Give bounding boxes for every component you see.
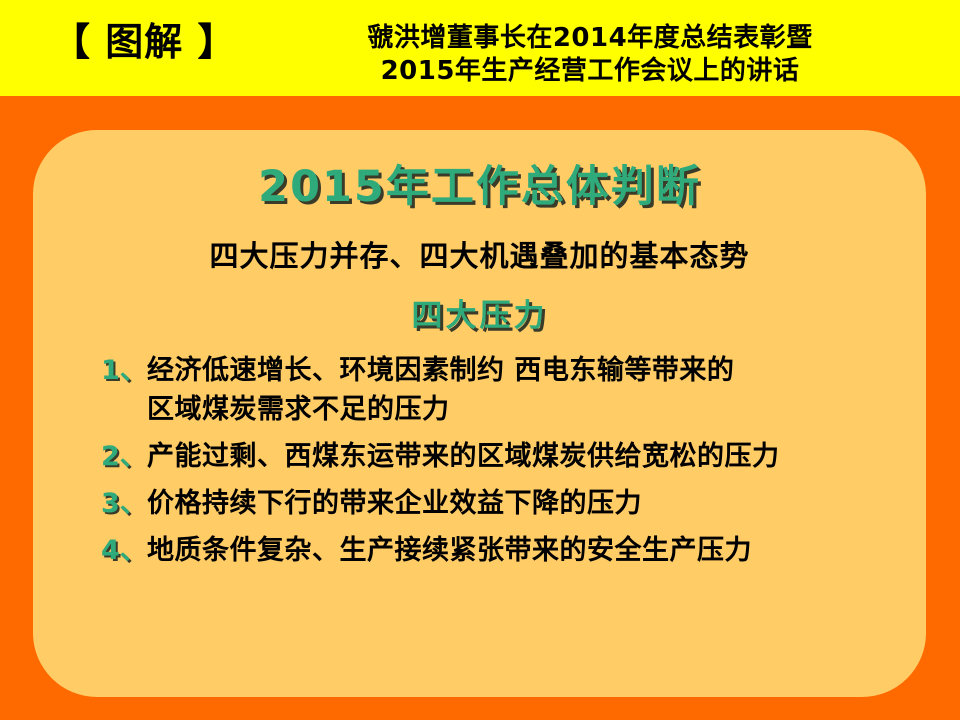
list-item-text-line-1: 地质条件复杂、生产接续紧张带来的安全生产压力 [147,532,921,571]
page-title-line-1: 虢洪增董事长在2014年度总结表彰暨 [250,22,930,55]
list-item-text-line-2: 区域煤炭需求不足的压力 [147,391,921,430]
list-item: 2、 产能过剩、西煤东运带来的区域煤炭供给宽松的压力 [101,438,921,477]
list-item-text: 经济低速增长、环境因素制约 西电东输等带来的 区域煤炭需求不足的压力 [147,352,921,430]
list-item-text: 产能过剩、西煤东运带来的区域煤炭供给宽松的压力 [147,438,921,477]
list-item-number: 3、 [101,485,147,524]
list-item-text: 价格持续下行的带来企业效益下降的压力 [147,485,921,524]
list-item: 1、 经济低速增长、环境因素制约 西电东输等带来的 区域煤炭需求不足的压力 [101,352,921,430]
pressure-list: 1、 经济低速增长、环境因素制约 西电东输等带来的 区域煤炭需求不足的压力 2、… [101,352,921,578]
header-badge-tujie: 【 图解 】 [52,22,242,64]
card-subtitle: 四大压力并存、四大机遇叠加的基本态势 [33,233,926,275]
list-item-number: 1、 [101,352,147,391]
header-bar: 【 图解 】 虢洪增董事长在2014年度总结表彰暨 2015年生产经营工作会议上… [0,0,960,96]
list-item-text: 地质条件复杂、生产接续紧张带来的安全生产压力 [147,532,921,571]
section-heading: 四大压力 [33,290,926,335]
list-item: 3、 价格持续下行的带来企业效益下降的压力 [101,485,921,524]
list-item-text-line-1: 产能过剩、西煤东运带来的区域煤炭供给宽松的压力 [147,438,921,477]
list-item-number: 4、 [101,532,147,571]
card-title: 2015年工作总体判断 [33,152,926,214]
content-card: 2015年工作总体判断 四大压力并存、四大机遇叠加的基本态势 四大压力 1、 经… [33,130,926,697]
list-item: 4、 地质条件复杂、生产接续紧张带来的安全生产压力 [101,532,921,571]
list-item-number: 2、 [101,438,147,477]
list-item-text-line-1: 价格持续下行的带来企业效益下降的压力 [147,485,921,524]
page-title-line-2: 2015年生产经营工作会议上的讲话 [250,55,930,88]
list-item-text-line-1: 经济低速增长、环境因素制约 西电东输等带来的 [147,352,921,391]
page-title: 虢洪增董事长在2014年度总结表彰暨 2015年生产经营工作会议上的讲话 [250,22,930,89]
